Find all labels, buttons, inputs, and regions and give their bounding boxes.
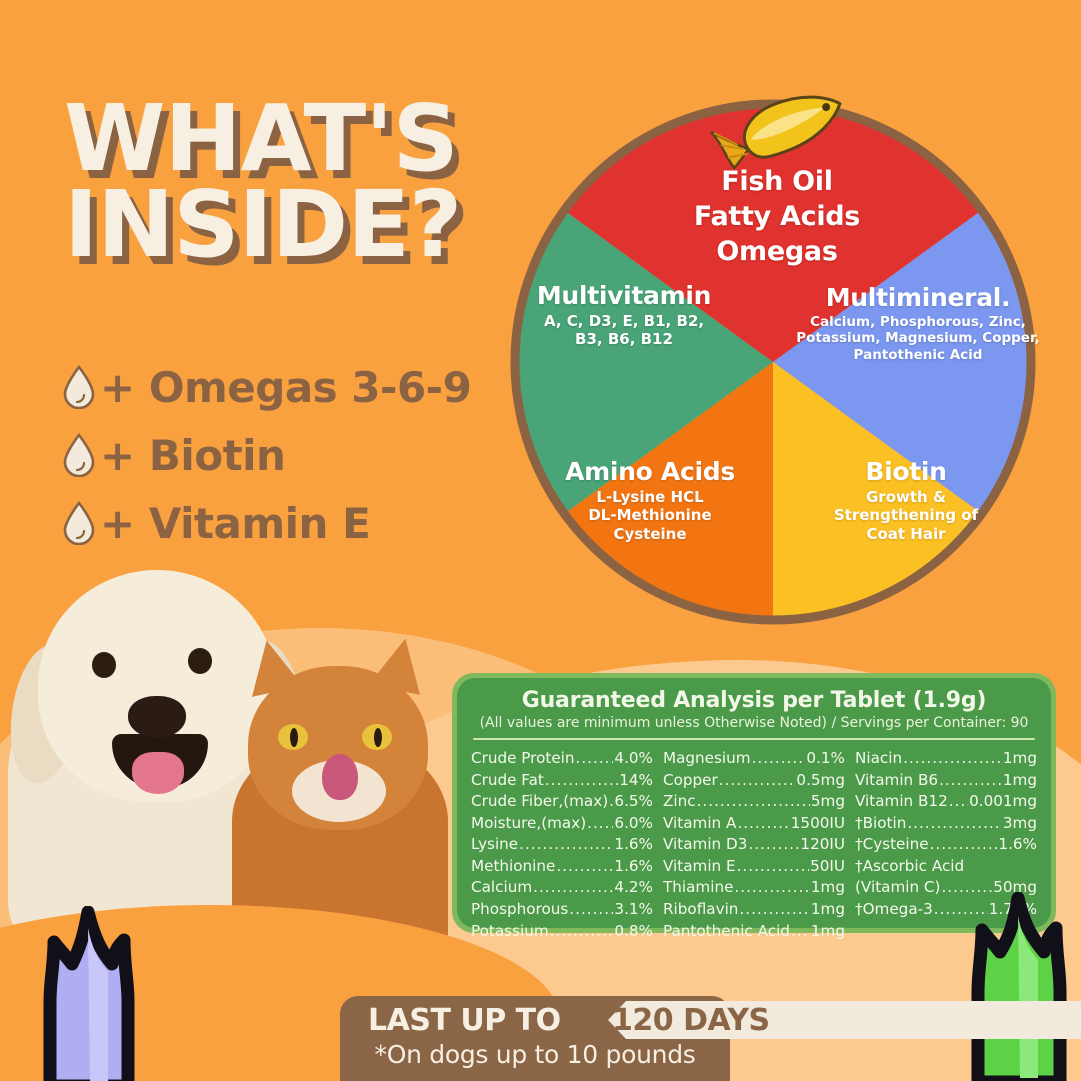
analysis-nutrient-value: 1mg [1003, 770, 1037, 792]
analysis-row: Crude Fiber,(max).......................… [471, 791, 653, 813]
cat-pupil-right [374, 728, 382, 747]
feature-list: + Omegas 3-6-9 + Biotin + Vitamin E [62, 356, 471, 560]
analysis-dot-leader: ........................................ [748, 834, 799, 856]
analysis-row: Crude Protein...........................… [471, 748, 653, 770]
analysis-row: †Biotin.................................… [855, 813, 1037, 835]
list-item: + Omegas 3-6-9 [62, 356, 471, 418]
analysis-dot-leader: ........................................ [719, 770, 796, 792]
guaranteed-analysis-column: Magnesium...............................… [663, 748, 845, 942]
analysis-row: Riboflavin..............................… [663, 899, 845, 921]
dog-eye-left [92, 652, 116, 678]
page-title: WHAT'S INSIDE? [64, 96, 534, 267]
analysis-nutrient-name: Vitamin A [663, 813, 736, 835]
analysis-row: Vitamin A...............................… [663, 813, 845, 835]
analysis-nutrient-value: 14% [619, 770, 653, 792]
analysis-row: Crude Fat...............................… [471, 770, 653, 792]
analysis-dot-leader: ........................................ [907, 813, 1002, 835]
analysis-row: Calcium.................................… [471, 877, 653, 899]
analysis-nutrient-name: Crude Fiber,(max) [471, 791, 608, 813]
analysis-dot-leader: ........................................ [949, 791, 968, 813]
droplet-icon [62, 365, 96, 409]
analysis-nutrient-value: 0.5mg [796, 770, 845, 792]
analysis-nutrient-value: 3.1% [614, 899, 653, 921]
analysis-row: Zinc....................................… [663, 791, 845, 813]
analysis-row: Vitamin B6..............................… [855, 770, 1037, 792]
infographic-canvas: WHAT'S INSIDE? + Omegas 3-6-9 + Biotin +… [0, 0, 1081, 1081]
analysis-row: Vitamin E...............................… [663, 856, 845, 878]
analysis-nutrient-value: 4.0% [614, 748, 653, 770]
guaranteed-analysis-column: Crude Protein...........................… [471, 748, 653, 942]
dog-tongue [132, 752, 184, 794]
droplet-icon [62, 433, 96, 477]
analysis-row: Thiamine................................… [663, 877, 845, 899]
analysis-dot-leader: ........................................ [697, 791, 810, 813]
analysis-nutrient-name: Lysine [471, 834, 518, 856]
analysis-nutrient-value: 1mg [1003, 748, 1037, 770]
analysis-nutrient-name: Crude Fat [471, 770, 544, 792]
analysis-row: †Cysteine...............................… [855, 834, 1037, 856]
analysis-dot-leader: ........................................ [545, 770, 618, 792]
analysis-nutrient-name: †Omega-3 [855, 899, 933, 921]
analysis-nutrient-name: Zinc [663, 791, 696, 813]
analysis-nutrient-value: 50IU [810, 856, 845, 878]
cat-pupil-left [290, 728, 298, 747]
analysis-nutrient-name: †Cysteine [855, 834, 929, 856]
list-item-label: + Vitamin E [100, 499, 370, 548]
analysis-row: Niacin..................................… [855, 748, 1037, 770]
analysis-nutrient-value: 1mg [811, 899, 845, 921]
analysis-nutrient-value: 1.6% [998, 834, 1037, 856]
analysis-nutrient-value: 1mg [811, 921, 845, 943]
analysis-nutrient-value: 0.8% [614, 921, 653, 943]
page-title-line2: INSIDE? [64, 182, 534, 268]
analysis-row: Phosphorous.............................… [471, 899, 653, 921]
duration-banner: LAST UP TO 120 DAYS *On dogs up to 10 po… [340, 996, 730, 1081]
guaranteed-analysis-columns: Crude Protein...........................… [471, 748, 1037, 942]
analysis-nutrient-name: Niacin [855, 748, 902, 770]
analysis-dot-leader: ........................................ [737, 813, 789, 835]
analysis-dot-leader: ........................................ [533, 877, 613, 899]
divider [473, 738, 1035, 740]
analysis-nutrient-name: Riboflavin [663, 899, 738, 921]
analysis-row: †Ascorbic Acid..........................… [855, 856, 1037, 878]
dog-eye-right [188, 648, 212, 674]
duration-note: *On dogs up to 10 pounds [340, 1040, 730, 1069]
analysis-nutrient-value: 0.001mg [969, 791, 1037, 813]
analysis-row: Methionine..............................… [471, 856, 653, 878]
droplet-icon [62, 501, 96, 545]
analysis-dot-leader: ........................................ [519, 834, 613, 856]
analysis-nutrient-name: (Vitamin C) [855, 877, 940, 899]
analysis-dot-leader: ........................................ [739, 899, 809, 921]
analysis-nutrient-name: †Ascorbic Acid [855, 856, 964, 878]
analysis-nutrient-value: 4.2% [614, 877, 653, 899]
analysis-nutrient-value: 6.5% [614, 791, 653, 813]
analysis-nutrient-name: Magnesium [663, 748, 751, 770]
analysis-nutrient-name: Methionine [471, 856, 555, 878]
analysis-row: Copper..................................… [663, 770, 845, 792]
analysis-nutrient-name: Vitamin B6 [855, 770, 938, 792]
analysis-dot-leader: ........................................ [791, 921, 810, 943]
analysis-nutrient-value: 1.6% [614, 834, 653, 856]
analysis-nutrient-name: Vitamin D3 [663, 834, 747, 856]
analysis-dot-leader: ........................................ [609, 791, 613, 813]
analysis-dot-leader: ........................................ [734, 877, 809, 899]
analysis-dot-leader: ........................................ [939, 770, 1002, 792]
flame-shape-left-icon [28, 906, 148, 1081]
list-item: + Biotin [62, 424, 471, 486]
analysis-nutrient-value: 3mg [1003, 813, 1037, 835]
analysis-dot-leader: ........................................ [737, 856, 809, 878]
analysis-nutrient-name: Vitamin B12 [855, 791, 948, 813]
cat-tongue [322, 754, 358, 800]
analysis-dot-leader: ........................................ [556, 856, 613, 878]
analysis-dot-leader: ........................................ [930, 834, 998, 856]
analysis-dot-leader: ........................................ [550, 921, 614, 943]
ingredients-pie-chart: Fish Oil Fatty Acids Omegas Multivitamin… [497, 86, 1049, 638]
analysis-nutrient-value: 1mg [811, 877, 845, 899]
list-item: + Vitamin E [62, 492, 471, 554]
analysis-nutrient-name: †Biotin [855, 813, 906, 835]
fish-icon [709, 76, 861, 180]
analysis-row: Lysine..................................… [471, 834, 653, 856]
analysis-row: Magnesium...............................… [663, 748, 845, 770]
analysis-nutrient-value: 6.0% [614, 813, 653, 835]
analysis-dot-leader: ........................................ [752, 748, 806, 770]
analysis-nutrient-value: 120IU [800, 834, 845, 856]
analysis-nutrient-name: Copper [663, 770, 718, 792]
analysis-nutrient-name: Vitamin E [663, 856, 736, 878]
analysis-dot-leader: ........................................ [587, 813, 613, 835]
analysis-nutrient-name: Phosphorous [471, 899, 568, 921]
analysis-nutrient-name: Thiamine [663, 877, 733, 899]
analysis-dot-leader: ........................................ [576, 748, 614, 770]
analysis-row: Potassium...............................… [471, 921, 653, 943]
analysis-dot-leader: ........................................ [903, 748, 1002, 770]
analysis-row: Pantothenic Acid........................… [663, 921, 845, 943]
analysis-nutrient-name: Potassium [471, 921, 549, 943]
duration-days: 120 DAYS [612, 1002, 770, 1038]
analysis-nutrient-name: Pantothenic Acid [663, 921, 790, 943]
analysis-nutrient-value: 1.6% [614, 856, 653, 878]
analysis-nutrient-name: Moisture,(max) [471, 813, 586, 835]
list-item-label: + Biotin [100, 431, 285, 480]
analysis-nutrient-name: Calcium [471, 877, 532, 899]
analysis-nutrient-value: 5mg [811, 791, 845, 813]
list-item-label: + Omegas 3-6-9 [100, 363, 471, 412]
analysis-row: Moisture,(max)..........................… [471, 813, 653, 835]
analysis-dot-leader: ........................................ [569, 899, 613, 921]
analysis-nutrient-name: Crude Protein [471, 748, 575, 770]
dog-nose [128, 696, 186, 738]
analysis-nutrient-value: 0.1% [806, 748, 845, 770]
guaranteed-analysis-subtitle: (All values are minimum unless Otherwise… [471, 715, 1037, 731]
guaranteed-analysis-title: Guaranteed Analysis per Tablet (1.9g) [471, 688, 1037, 713]
analysis-nutrient-value: 1500IU [791, 813, 845, 835]
analysis-row: Vitamin B12.............................… [855, 791, 1037, 813]
analysis-row: Vitamin D3..............................… [663, 834, 845, 856]
flame-shape-right-icon [958, 892, 1078, 1081]
